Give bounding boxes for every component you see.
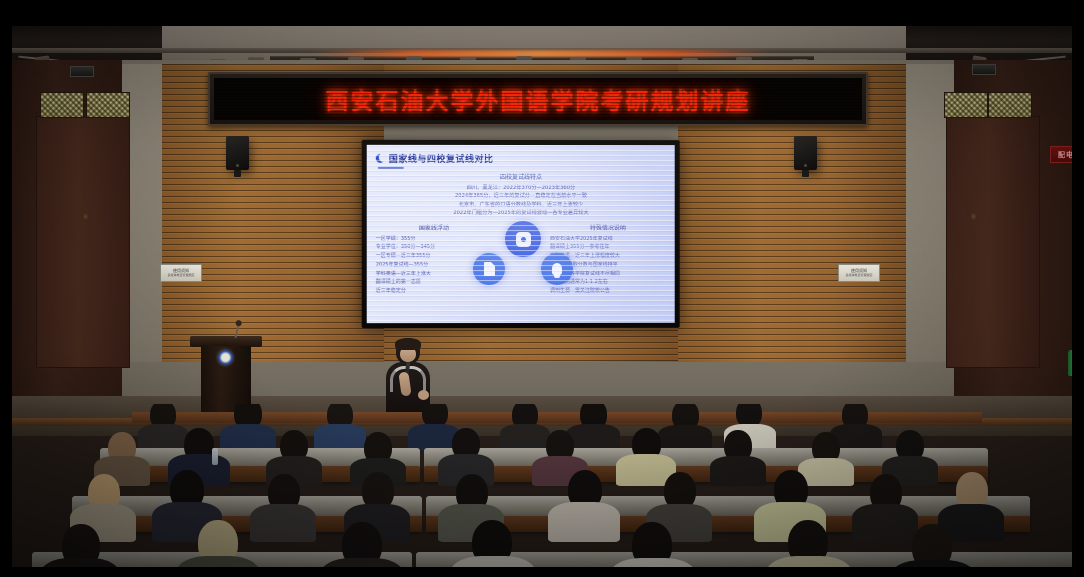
slide-icon-cluster xyxy=(463,221,593,291)
slide-title-row: 国家线与四校复试线对比 xyxy=(376,152,666,165)
presenter-hand xyxy=(418,390,429,400)
slide-title: 国家线与四校复试线对比 xyxy=(389,152,494,165)
plaque-subtitle-left: 多媒体教室管理规定 xyxy=(167,274,194,277)
slide-body-line: 2022年门槛分为—2025年的复试线波动—各专业差异较大 xyxy=(376,209,666,217)
slide-body-line: 北京市、广东省的口语分数线及学科、近三年上涨较少 xyxy=(376,201,666,210)
exit-sign-left xyxy=(70,66,94,77)
wall-speaker-left xyxy=(226,136,249,170)
door-handle-left[interactable] xyxy=(82,212,89,221)
wall-plaque-right: 使用须知 多媒体教室管理规定 xyxy=(838,264,880,282)
audience-body xyxy=(250,504,316,542)
screenshot-root: 配电箱 使用须知 多媒体教室管理规定 使用须知 多媒体教室管理规定 西安石油大学… xyxy=(0,0,1084,577)
slide-subtitle: 四校复试线特点 xyxy=(376,172,666,181)
lecture-hall-scene: 配电箱 使用须知 多媒体教室管理规定 使用须知 多媒体教室管理规定 西安石油大学… xyxy=(12,26,1072,567)
fire-extinguisher xyxy=(1068,350,1072,376)
door-right[interactable] xyxy=(946,116,1040,368)
wall-speaker-right xyxy=(794,136,817,170)
transom-window-left-a xyxy=(40,92,84,118)
led-banner-display: 西安石油大学外国语学院考研规划讲座 xyxy=(214,78,862,120)
audience-body xyxy=(548,502,620,542)
moon-icon xyxy=(376,154,385,163)
audience-body xyxy=(710,456,766,486)
audience-body xyxy=(500,424,550,450)
transom-window-left-b xyxy=(86,92,130,118)
audience-body xyxy=(566,424,620,451)
water-bottle xyxy=(212,448,218,465)
led-banner-text: 西安石油大学外国语学院考研规划讲座 xyxy=(326,82,751,116)
door-left[interactable] xyxy=(36,116,130,368)
projection-screen: 国家线与四校复试线对比 四校复试线特点 四川、黑龙江：2022年370分—202… xyxy=(362,140,680,328)
university-emblem xyxy=(218,350,233,365)
exit-sign-right xyxy=(972,64,996,75)
audience-body xyxy=(852,504,918,542)
audience-body xyxy=(314,424,366,450)
side-wall-right: 配电箱 xyxy=(954,60,1072,396)
audience-body xyxy=(138,424,188,450)
speaker-mount-left xyxy=(234,170,241,177)
title-underline xyxy=(378,167,404,169)
projection-screen-surface: 国家线与四校复试线对比 四校复试线特点 四川、黑龙江：2022年370分—202… xyxy=(367,145,675,323)
presenter-hair xyxy=(395,338,421,350)
truss-red-glow xyxy=(312,50,772,57)
lightbulb-icon xyxy=(541,253,573,285)
electrical-box-sign: 配电箱 xyxy=(1050,146,1072,163)
podium xyxy=(190,326,262,414)
bench-desk xyxy=(132,412,432,423)
transom-window-right-a xyxy=(944,92,988,118)
transom-window-right-b xyxy=(988,92,1032,118)
slide-body-line: 2024年365分，近三年的复试分—直稳定在当前水平一致 xyxy=(376,192,666,201)
wall-plaque-left: 使用须知 多媒体教室管理规定 xyxy=(160,264,202,282)
audience-area xyxy=(12,404,1072,567)
door-handle-right[interactable] xyxy=(970,212,977,221)
presentation-slide: 国家线与四校复试线对比 四校复试线特点 四川、黑龙江：2022年370分—202… xyxy=(367,145,675,323)
slide-body-line: 四川、黑龙江：2022年370分—2023年360分 xyxy=(376,184,666,193)
document-icon xyxy=(473,253,505,285)
side-wall-left xyxy=(12,60,122,396)
led-banner: 西安石油大学外国语学院考研规划讲座 xyxy=(208,72,868,126)
speaker-mount-right xyxy=(802,170,809,177)
gear-icon xyxy=(505,221,541,257)
slide-body: 四川、黑龙江：2022年370分—2023年360分 2024年365分，近三年… xyxy=(376,184,666,218)
plaque-subtitle-right: 多媒体教室管理规定 xyxy=(845,274,872,277)
